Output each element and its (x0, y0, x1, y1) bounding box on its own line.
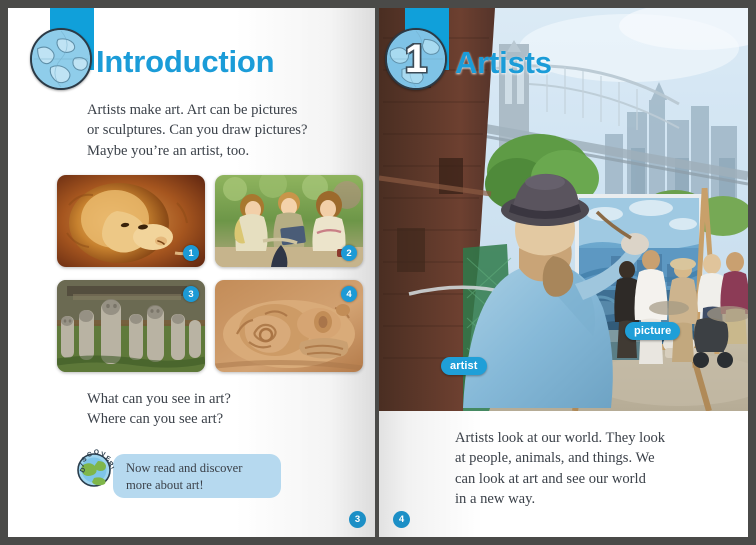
page-number-left: 3 (349, 511, 366, 528)
body-line: at people, animals, and things. We (455, 448, 735, 468)
body-line: in a new way. (455, 489, 735, 509)
body-line: Artists look at our world. They look (455, 428, 735, 448)
thumbnail-grid: 1 (57, 175, 363, 372)
body-line: can look at art and see our world (455, 469, 735, 489)
globe-icon: 1 (385, 28, 447, 90)
word-tag-picture[interactable]: picture (625, 322, 680, 340)
thumbnail-number-badge: 3 (183, 286, 199, 302)
intro-line: Artists make art. Art can be pictures (87, 100, 362, 120)
discover-line: more about art! (126, 477, 242, 494)
question-line: What can you see in art? (87, 389, 357, 409)
sand-sculpture-thumbnail[interactable]: 4 (215, 280, 363, 372)
right-page: artist picture 1 Artists Artists look at… (379, 8, 748, 537)
stone-statues-thumbnail[interactable]: 3 (57, 280, 205, 372)
question-list: What can you see in art? Where can you s… (87, 389, 357, 430)
discover-seal-icon: D I S C O V E R ! (70, 445, 118, 493)
question-line: Where can you see art? (87, 409, 357, 429)
chapter-title: Artists (455, 45, 552, 81)
word-tag-artist[interactable]: artist (441, 357, 487, 375)
thumbnail-number-badge: 1 (183, 245, 199, 261)
intro-paragraph: Artists make art. Art can be pictures or… (87, 100, 362, 161)
svg-text:O: O (94, 449, 99, 456)
thumbnail-number-badge: 2 (341, 245, 357, 261)
discover-callout: Now read and discover more about art! (113, 454, 281, 498)
intro-line: Maybe you’re an artist, too. (87, 141, 362, 161)
thumbnail-number-badge: 4 (341, 286, 357, 302)
page-number-right: 4 (393, 511, 410, 528)
body-paragraph: Artists look at our world. They look at … (455, 428, 735, 510)
page-title: Introduction (96, 44, 274, 80)
children-reading-painting-thumbnail[interactable]: 2 (215, 175, 363, 267)
discover-line: Now read and discover (126, 460, 242, 477)
discover-text: Now read and discover more about art! (126, 460, 242, 493)
left-page: Introduction Artists make art. Art can b… (8, 8, 375, 537)
lion-painting-thumbnail[interactable]: 1 (57, 175, 205, 267)
book-spread: Introduction Artists make art. Art can b… (0, 0, 756, 545)
intro-line: or sculptures. Can you draw pictures? (87, 120, 362, 140)
chapter-number: 1 (387, 30, 445, 88)
globe-icon (30, 28, 92, 90)
